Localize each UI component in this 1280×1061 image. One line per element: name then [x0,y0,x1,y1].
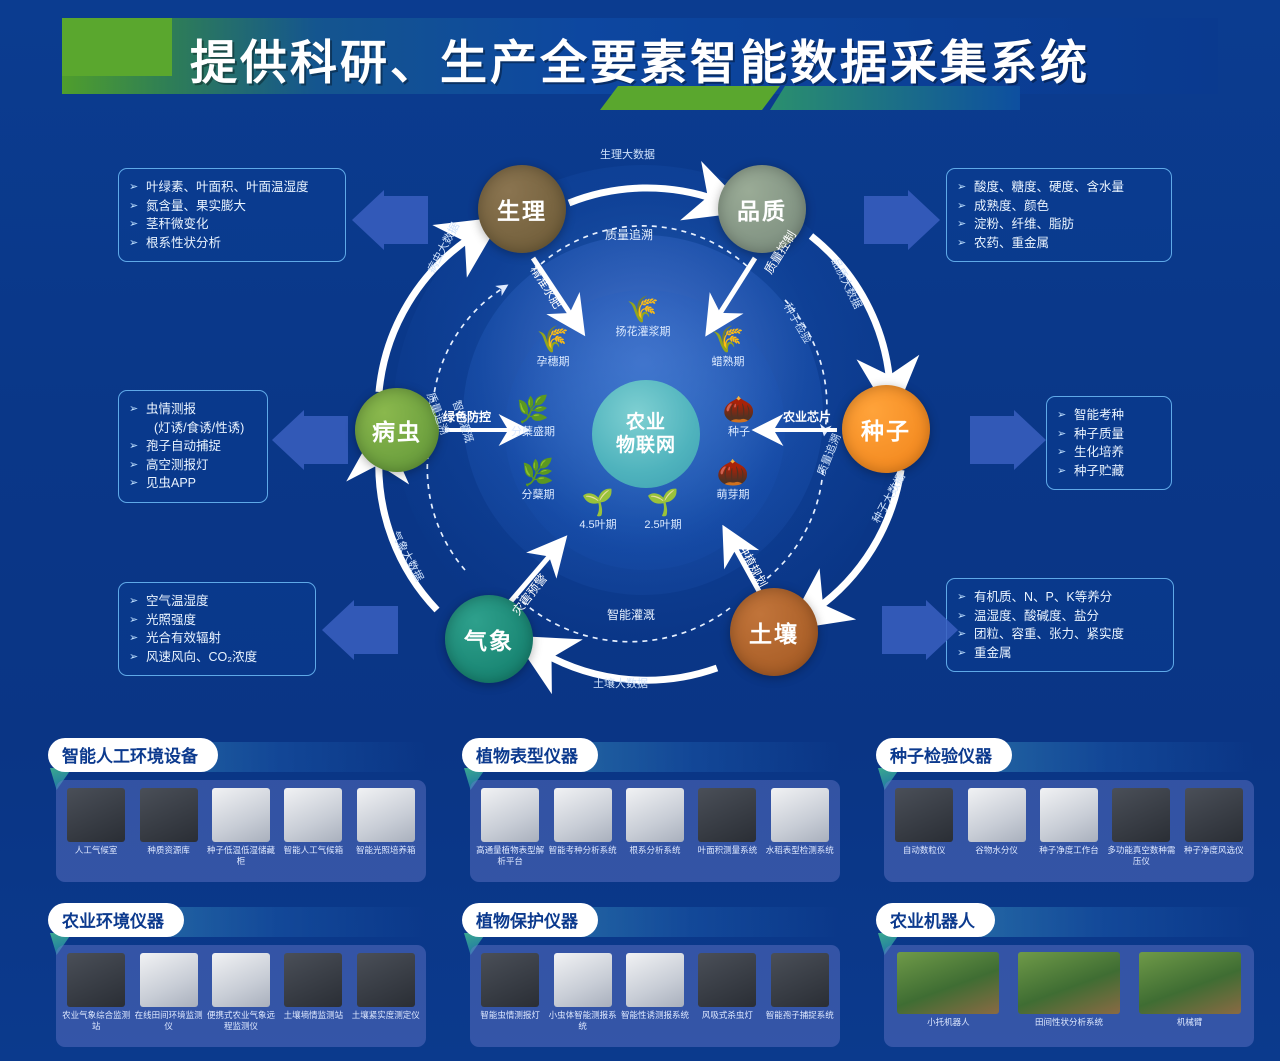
node-label: 品质 [737,192,787,226]
section-seed-testing-instruments: 种子检验仪器 自动数粒仪 谷物水分仪 种子净度工作台 多功能真空数种需压仪 种子… [876,738,1254,886]
product-panel: 农业气象综合监测站 在线田间环境监测仪 便携式农业气象远程监测仪 土壤墒情监测站… [56,945,426,1047]
list-item: ➢温湿度、酸碱度、盐分 [957,607,1161,626]
arrow-to-pest-box [270,410,350,470]
chevron-right-icon: ➢ [129,197,138,216]
section-agricultural-environment-instruments: 农业环境仪器 农业气象综合监测站 在线田间环境监测仪 便携式农业气象远程监测仪 … [48,903,426,1051]
list-item: ➢淀粉、纤维、脂肪 [957,215,1159,234]
infobox-physiology: ➢叶绿素、叶面积、叶面温湿度 ➢氮含量、果实膨大 ➢茎秆微变化 ➢根系性状分析 [118,168,346,262]
product-item[interactable]: 小托机器人 [894,952,1002,1028]
product-panel: 高通量植物表型解析平台 智能考种分析系统 根系分析系统 叶面积测量系统 水稻表型… [470,780,840,882]
stage-label: 扬花灌浆期 [616,326,671,338]
chevron-right-icon: ➢ [129,234,138,253]
spoke-label-green-prevention: 绿色防控 [443,408,491,425]
product-image [357,953,415,1007]
stage-flowering-filling: 🌾 扬花灌浆期 [598,295,688,339]
product-image [67,788,125,842]
section-header: 植物保护仪器 [462,903,840,937]
section-title: 农业机器人 [876,903,995,937]
list-item: ➢团粒、容重、张力、紧实度 [957,625,1161,644]
product-label: 智能人工气候箱 [278,845,348,856]
product-label: 智能孢子捕捉系统 [765,1010,835,1021]
product-item[interactable]: 风吸式杀虫灯 [692,953,762,1021]
chevron-right-icon: ➢ [129,629,138,648]
rice-plant-icon: 🌾 [508,325,598,353]
arc-label-smart-irrigation-bottom: 智能灌溉 [607,606,655,623]
section-header: 农业机器人 [876,903,1254,937]
chevron-right-icon: ➢ [129,437,138,456]
seed-grain-icon: 🌰 [694,395,784,423]
product-label: 智能性诱测报系统 [620,1010,690,1021]
infobox-seed: ➢智能考种 ➢种子质量 ➢生化培养 ➢种子贮藏 [1046,396,1172,490]
product-image [212,953,270,1007]
section-header: 智能人工环境设备 [48,738,426,772]
product-label: 人工气候室 [61,845,131,856]
stage-label: 蜡熟期 [712,356,745,368]
product-item[interactable]: 水稻表型检测系统 [765,788,835,856]
product-item[interactable]: 多功能真空数种需压仪 [1106,788,1176,867]
list-item: ➢光合有效辐射 [129,629,303,648]
product-image [626,953,684,1007]
product-item[interactable]: 谷物水分仪 [962,788,1032,856]
chevron-right-icon: ➢ [1057,462,1066,481]
section-agricultural-robots: 农业机器人 小托机器人 田间性状分析系统 机械臂 [876,903,1254,1051]
chevron-right-icon: ➢ [957,234,966,253]
stage-label: 4.5叶期 [579,519,616,531]
product-image [698,953,756,1007]
list-item: ➢高空测报灯 [129,456,255,475]
stage-label: 分蘖期 [522,489,555,501]
product-image [67,953,125,1007]
section-header: 农业环境仪器 [48,903,426,937]
product-item[interactable]: 机械臂 [1136,952,1244,1028]
list-item: ➢见虫APP [129,474,255,493]
stage-tillering-peak: 🌿 分蘖盛期 [488,395,578,439]
node-label: 气象 [464,622,514,656]
infobox-pest: ➢虫情测报 (灯诱/食诱/性诱) ➢孢子自动捕捉 ➢高空测报灯 ➢见虫APP [118,390,268,503]
list-item: ➢氮含量、果实膨大 [129,197,333,216]
product-item[interactable]: 田间性状分析系统 [1015,952,1123,1028]
product-image [554,788,612,842]
chevron-right-icon: ➢ [957,197,966,216]
node-seed[interactable]: 种子 [842,385,930,473]
product-item[interactable]: 小虫体智能测报系统 [548,953,618,1032]
product-label: 自动数粒仪 [889,845,959,856]
page-header: 提供科研、生产全要素智能数据采集系统 [0,0,1280,112]
chevron-right-icon: ➢ [129,215,138,234]
product-image [1018,952,1120,1014]
list-item: ➢重金属 [957,644,1161,663]
section-header: 种子检验仪器 [876,738,1254,772]
chevron-right-icon: ➢ [129,456,138,475]
list-item: ➢农药、重金属 [957,234,1159,253]
chevron-right-icon: ➢ [129,611,138,630]
product-image [357,788,415,842]
seedling-icon: 🌿 [488,395,578,423]
product-image [284,788,342,842]
stage-label: 2.5叶期 [644,519,681,531]
stage-seed: 🌰 种子 [694,395,784,439]
section-title: 植物表型仪器 [462,738,598,772]
list-item: ➢种子质量 [1057,425,1159,444]
product-item[interactable]: 高通量植物表型解析平台 [475,788,545,867]
product-item[interactable]: 智能光照培养箱 [351,788,421,856]
central-cycle-diagram: 生理 品质 病虫 种子 气象 土壤 农业 物联网 🌾 扬花灌浆期 🌾 孕穗期 🌾… [345,140,935,710]
product-item[interactable]: 在线田间环境监测仪 [134,953,204,1032]
infobox-weather: ➢空气温湿度 ➢光照强度 ➢光合有效辐射 ➢风速风向、CO₂浓度 [118,582,316,676]
arc-physiology-to-quality [569,188,717,203]
stage-germination: 🌰 萌芽期 [688,458,778,502]
product-label: 种质资源库 [134,845,204,856]
product-item[interactable]: 种质资源库 [134,788,204,856]
product-item[interactable]: 农业气象综合监测站 [61,953,131,1032]
product-image [626,788,684,842]
hub-agriculture-iot[interactable]: 农业 物联网 [592,380,700,488]
product-item[interactable]: 种子净度工作台 [1034,788,1104,856]
product-item[interactable]: 根系分析系统 [620,788,690,856]
hub-label-line2: 物联网 [616,434,676,457]
node-label: 病虫 [372,413,422,447]
section-title: 智能人工环境设备 [48,738,218,772]
list-item: ➢有机质、N、P、K等养分 [957,588,1161,607]
product-image [698,788,756,842]
arc-label-physiology-bigdata: 生理大数据 [600,146,655,162]
product-label: 农业气象综合监测站 [61,1010,131,1032]
product-item[interactable]: 智能人工气候箱 [278,788,348,856]
chevron-right-icon: ➢ [129,178,138,197]
section-title: 植物保护仪器 [462,903,598,937]
section-title: 种子检验仪器 [876,738,1012,772]
product-label: 种子净度风选仪 [1179,845,1249,856]
product-label: 智能考种分析系统 [548,845,618,856]
spoke-label-ag-chip: 农业芯片 [783,408,831,425]
infobox-soil: ➢有机质、N、P、K等养分 ➢温湿度、酸碱度、盐分 ➢团粒、容重、张力、紧实度 … [946,578,1174,672]
rice-plant-icon: 🌾 [598,295,688,323]
list-item: ➢智能考种 [1057,406,1159,425]
product-label: 在线田间环境监测仪 [134,1010,204,1032]
node-label: 土壤 [749,615,799,649]
chevron-right-icon: ➢ [129,474,138,493]
list-item: ➢根系性状分析 [129,234,333,253]
chevron-right-icon: ➢ [1057,443,1066,462]
infographic-root: 提供科研、生产全要素智能数据采集系统 ➢叶绿素、叶面积、叶面温湿度 ➢氮含量、果… [0,0,1280,1061]
list-item: ➢种子贮藏 [1057,462,1159,481]
chevron-right-icon: ➢ [129,400,138,419]
node-label: 生理 [497,192,547,226]
product-panel: 小托机器人 田间性状分析系统 机械臂 [884,945,1254,1047]
arc-label-quality-trace-top: 质量追溯 [605,226,653,243]
node-physiology[interactable]: 生理 [478,165,566,253]
arc-pest-to-physiology [379,236,473,392]
list-item: ➢茎秆微变化 [129,215,333,234]
product-image [284,953,342,1007]
product-item[interactable]: 土壤墒情监测站 [278,953,348,1021]
stage-label: 种子 [728,426,750,438]
list-item: ➢空气温湿度 [129,592,303,611]
product-item[interactable]: 智能孢子捕捉系统 [765,953,835,1021]
product-image [212,788,270,842]
product-image [771,788,829,842]
product-label: 谷物水分仪 [962,845,1032,856]
stage-label: 孕穗期 [537,356,570,368]
stage-label: 分蘖盛期 [511,426,555,438]
list-item: ➢光照强度 [129,611,303,630]
product-label: 多功能真空数种需压仪 [1106,845,1176,867]
product-item[interactable]: 种子净度风选仪 [1179,788,1249,856]
product-label: 土壤紧实度测定仪 [351,1010,421,1021]
product-label: 高通量植物表型解析平台 [475,845,545,867]
section-title: 农业环境仪器 [48,903,184,937]
product-label: 种子低温低湿储藏柜 [206,845,276,867]
product-item[interactable]: 种子低温低湿储藏柜 [206,788,276,867]
list-item: ➢孢子自动捕捉 [129,437,255,456]
rice-plant-icon: 🌾 [683,325,773,353]
list-item: ➢酸度、糖度、硬度、含水量 [957,178,1159,197]
section-smart-artificial-environment: 智能人工环境设备 人工气候室 种质资源库 种子低温低湿储藏柜 智能人工气候箱 智… [48,738,426,886]
product-image [140,788,198,842]
list-item: ➢风速风向、CO₂浓度 [129,648,303,667]
product-image [481,953,539,1007]
list-item: ➢叶绿素、叶面积、叶面温湿度 [129,178,333,197]
product-image [140,953,198,1007]
seed-sprout-icon: 🌰 [688,458,778,486]
product-image [897,952,999,1014]
product-label: 智能光照培养箱 [351,845,421,856]
product-item[interactable]: 自动数粒仪 [889,788,959,856]
product-label: 根系分析系统 [620,845,690,856]
product-item[interactable]: 便携式农业气象远程监测仪 [206,953,276,1032]
product-image [771,953,829,1007]
stage-booting: 🌾 孕穗期 [508,325,598,369]
section-plant-phenotype-instruments: 植物表型仪器 高通量植物表型解析平台 智能考种分析系统 根系分析系统 叶面积测量… [462,738,840,886]
product-label: 田间性状分析系统 [1015,1017,1123,1028]
product-image [1112,788,1170,842]
product-panel: 人工气候室 种质资源库 种子低温低湿储藏柜 智能人工气候箱 智能光照培养箱 [56,780,426,882]
product-image [968,788,1026,842]
product-label: 种子净度工作台 [1034,845,1104,856]
arrow-to-seed-box [968,410,1048,470]
product-item[interactable]: 智能虫情测报灯 [475,953,545,1021]
section-header: 植物表型仪器 [462,738,840,772]
product-label: 机械臂 [1136,1017,1244,1028]
spoke-quality-control [717,258,755,318]
product-image [895,788,953,842]
product-label: 土壤墒情监测站 [278,1010,348,1021]
node-soil[interactable]: 土壤 [730,588,818,676]
product-image [1040,788,1098,842]
node-label: 种子 [861,412,911,446]
chevron-right-icon: ➢ [957,178,966,197]
product-label: 风吸式杀虫灯 [692,1010,762,1021]
chevron-right-icon: ➢ [1057,406,1066,425]
product-image [1185,788,1243,842]
product-item[interactable]: 智能性诱测报系统 [620,953,690,1021]
infobox-quality: ➢酸度、糖度、硬度、含水量 ➢成熟度、颜色 ➢淀粉、纤维、脂肪 ➢农药、重金属 [946,168,1172,262]
hub-label-line1: 农业 [626,411,666,434]
product-label: 小托机器人 [894,1017,1002,1028]
arc-label-soil-bigdata: 土壤大数据 [593,675,648,691]
list-item: ➢虫情测报 [129,400,255,419]
product-label: 小虫体智能测报系统 [548,1010,618,1032]
product-label: 叶面积测量系统 [692,845,762,856]
product-label: 水稻表型检测系统 [765,845,835,856]
product-panel: 智能虫情测报灯 小虫体智能测报系统 智能性诱测报系统 风吸式杀虫灯 智能孢子捕捉… [470,945,840,1047]
section-plant-protection-instruments: 植物保护仪器 智能虫情测报灯 小虫体智能测报系统 智能性诱测报系统 风吸式杀虫灯… [462,903,840,1051]
seedling-icon: 🌿 [493,458,583,486]
product-item[interactable]: 人工气候室 [61,788,131,856]
list-item-sub: (灯诱/食诱/性诱) [129,419,255,438]
product-panel: 自动数粒仪 谷物水分仪 种子净度工作台 多功能真空数种需压仪 种子净度风选仪 [884,780,1254,882]
product-image [481,788,539,842]
product-image [1139,952,1241,1014]
chevron-right-icon: ➢ [957,215,966,234]
list-item: ➢成熟度、颜色 [957,197,1159,216]
stage-label: 萌芽期 [717,489,750,501]
dashed-arc-quality-trace-left [427,440,465,570]
chevron-right-icon: ➢ [129,648,138,667]
list-item: ➢生化培养 [1057,443,1159,462]
page-title: 提供科研、生产全要素智能数据采集系统 [0,24,1280,93]
product-label: 便携式农业气象远程监测仪 [206,1010,276,1032]
chevron-right-icon: ➢ [1057,425,1066,444]
product-item[interactable]: 智能考种分析系统 [548,788,618,856]
product-item[interactable]: 土壤紧实度测定仪 [351,953,421,1021]
product-item[interactable]: 叶面积测量系统 [692,788,762,856]
chevron-right-icon: ➢ [129,592,138,611]
dashed-arc-smart-irrigation-left [433,288,503,402]
product-label: 智能虫情测报灯 [475,1010,545,1021]
product-image [554,953,612,1007]
stage-dough: 🌾 蜡熟期 [683,325,773,369]
